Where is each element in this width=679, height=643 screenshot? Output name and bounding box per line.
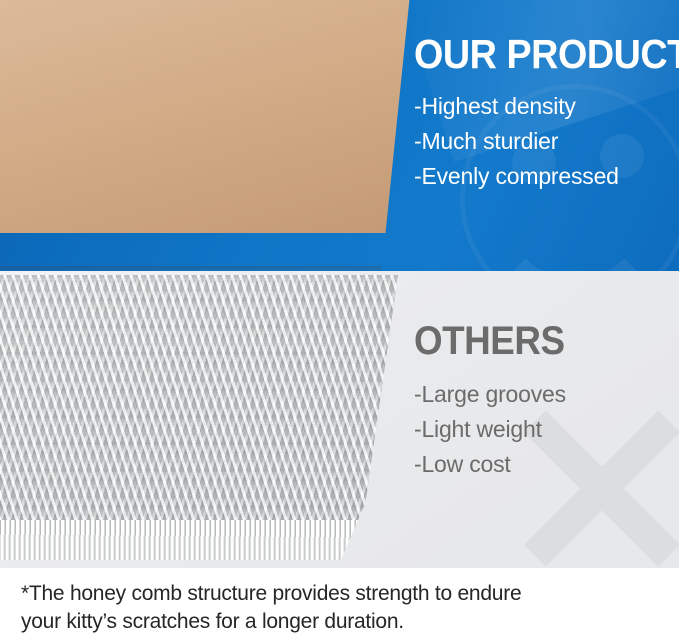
others-heading: OTHERS — [414, 321, 651, 361]
others-bullet-3: -Low cost — [414, 447, 672, 482]
product-comparison-infographic: OUR PRODUCT -Highest density -Much sturd… — [0, 0, 679, 643]
others-section: OTHERS -Large grooves -Light weight -Low… — [0, 271, 679, 568]
our-product-section: OUR PRODUCT -Highest density -Much sturd… — [0, 0, 679, 271]
caption-text: *The honey comb structure provides stren… — [21, 580, 661, 636]
our-product-bullet-1: -Highest density — [414, 89, 672, 124]
gray-corrugated-product-image — [0, 275, 398, 560]
caption-line-1: *The honey comb structure provides stren… — [21, 580, 661, 608]
caption-area: *The honey comb structure provides stren… — [0, 568, 679, 643]
others-bullet-1: -Large grooves — [414, 377, 672, 412]
others-text-block: OTHERS -Large grooves -Light weight -Low… — [414, 321, 672, 482]
brown-product-surface — [0, 0, 410, 233]
gray-product-surface — [0, 275, 398, 526]
our-product-text-block: OUR PRODUCT -Highest density -Much sturd… — [414, 34, 672, 194]
brown-honeycomb-product-image — [0, 0, 410, 271]
brown-product-edge — [0, 230, 410, 271]
caption-line-2: your kitty’s scratches for a longer dura… — [21, 608, 661, 636]
others-bullet-2: -Light weight — [414, 412, 672, 447]
our-product-bullet-2: -Much sturdier — [414, 124, 672, 159]
our-product-heading: OUR PRODUCT — [414, 34, 651, 75]
gray-product-edge — [0, 520, 398, 560]
our-product-bullet-3: -Evenly compressed — [414, 159, 672, 194]
